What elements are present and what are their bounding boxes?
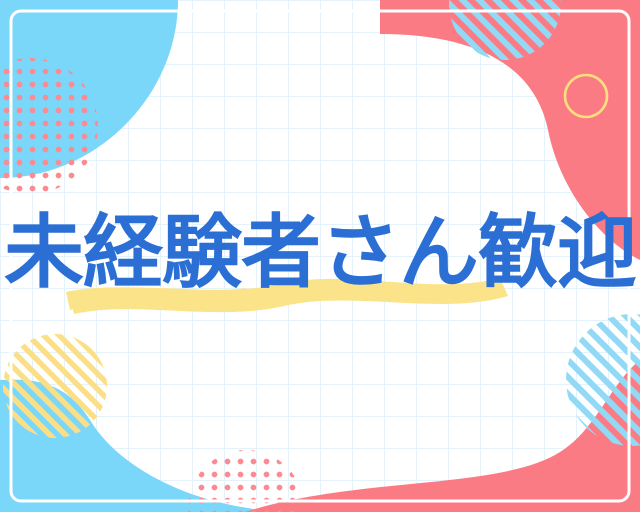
banner-canvas: 未経験者さん歓迎 bbox=[0, 0, 640, 512]
yellow-stripe-circle-bottom-left bbox=[3, 334, 107, 438]
banner-artwork bbox=[0, 0, 640, 512]
